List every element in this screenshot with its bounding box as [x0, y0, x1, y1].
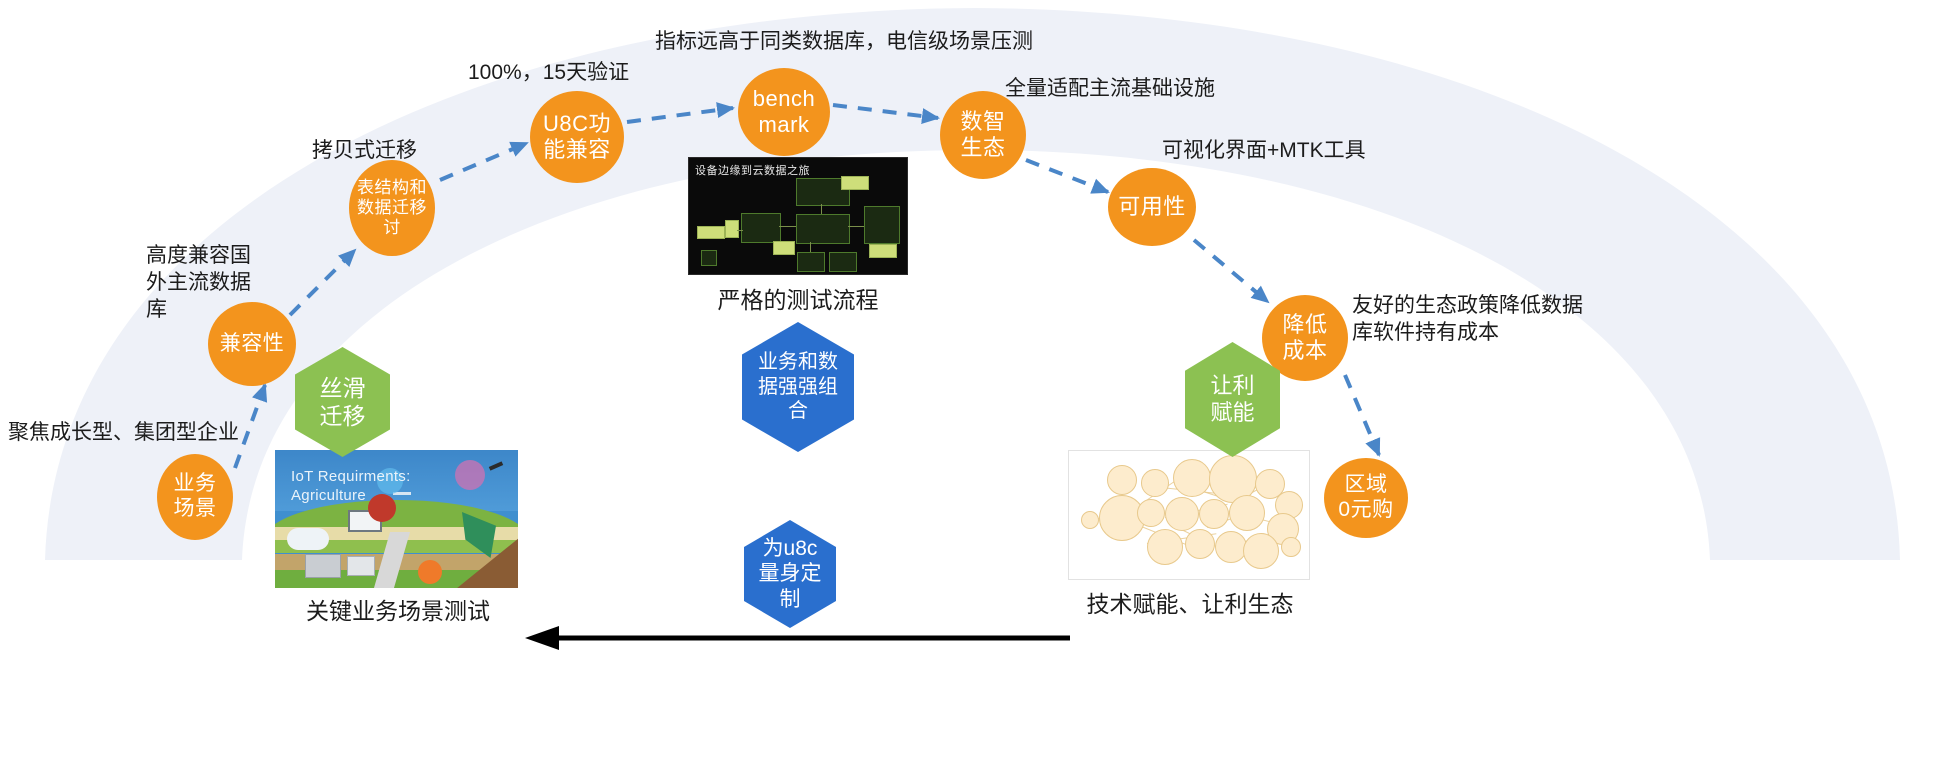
dark-diagram-shape [864, 206, 900, 244]
node-label-line2: 成本 [1278, 338, 1331, 364]
bubble-node [1199, 499, 1229, 529]
dark-diagram-shape [869, 244, 897, 258]
iot-node-dot [418, 560, 442, 584]
bubble-node [1137, 499, 1165, 527]
dark-diagram-shape [796, 214, 850, 244]
hex-profit-sharing-empower[interactable]: 让利 赋能 [1185, 342, 1280, 457]
dark-diagram-shape [841, 176, 869, 190]
bubble-node [1147, 529, 1183, 565]
hex-label-line2: 量身定制 [750, 561, 830, 612]
bubble-node [1215, 531, 1247, 563]
caption-key-business-scenario-test: 关键业务场景测试 [270, 592, 526, 626]
diagram-canvas: 业务 场景 兼容性 表结构和 数据迁移 讨 U8C功 能兼容 bench mar… [0, 0, 1945, 782]
dark-diagram-connector [810, 242, 811, 252]
bubble-node [1281, 537, 1301, 557]
picture-iot-agriculture: IoT Requirments: Agriculture [275, 450, 518, 588]
node-label-line1: 兼容性 [216, 332, 289, 357]
caption-technology-empower-ecosystem: 技术赋能、让利生态 [1035, 585, 1345, 619]
hex-custom-for-u8c[interactable]: 为u8c 量身定制 [744, 520, 836, 628]
flow-arrow-leftward [525, 618, 1070, 658]
annotation-high-compat-overseas-db: 高度兼容国 外主流数据 库 [146, 243, 251, 324]
annotation-focus-enterprises: 聚焦成长型、集团型企业 [8, 420, 239, 447]
hex-label-line2: 赋能 [1204, 400, 1260, 427]
iot-farmhouse [305, 554, 341, 578]
hex-label-line2: 迁移 [314, 402, 372, 430]
bubble-node [1173, 459, 1211, 497]
bubble-node [1229, 495, 1265, 531]
bubble-node [1185, 529, 1215, 559]
node-label-line1: 降低 [1278, 312, 1331, 338]
hex-smooth-migration[interactable]: 丝滑 迁移 [295, 347, 390, 457]
dark-diagram-shape [701, 250, 717, 266]
node-label-line2: 生态 [956, 135, 1009, 161]
hex-business-data-combo[interactable]: 业务和数 据强强组 合 [742, 322, 854, 452]
dark-diagram-shape [697, 226, 725, 239]
picture-technology-bubble-network [1068, 450, 1310, 580]
iot-title-line2: Agriculture [291, 487, 366, 504]
hex-label-line1: 丝滑 [314, 374, 372, 402]
node-label-line1: 表结构和 [353, 178, 431, 198]
annotation-friendly-eco-policy: 友好的生态政策降低数据 库软件持有成本 [1352, 293, 1583, 347]
node-label-line1: U8C功 [539, 111, 615, 137]
edge-to-cloud-title: 设备边缘到云数据之旅 [695, 162, 810, 178]
node-label-line3: 讨 [353, 218, 431, 238]
dark-diagram-connector [848, 226, 864, 227]
node-u8c-function-compatibility[interactable]: U8C功 能兼容 [530, 91, 624, 183]
node-label-line1: 业务 [170, 472, 221, 497]
dark-diagram-shape [725, 220, 739, 238]
node-label-line1: 数智 [956, 109, 1009, 135]
iot-title: IoT Requirments: Agriculture [291, 468, 411, 506]
hex-label-line3: 合 [752, 399, 844, 423]
node-schema-data-migration[interactable]: 表结构和 数据迁移 讨 [349, 160, 435, 256]
iot-cloud [287, 528, 329, 550]
annotation-metrics-far-above: 指标远高于同类数据库，电信级场景压测 [655, 29, 1033, 56]
node-label-line2: mark [749, 112, 819, 138]
dark-diagram-shape [797, 252, 825, 272]
bubble-node [1081, 511, 1099, 529]
node-label-line1: bench [749, 86, 819, 112]
annotation-full-adaptation-infra: 全量适配主流基础设施 [1005, 76, 1215, 103]
node-label-line2: 0元购 [1334, 498, 1397, 523]
node-business-scenario[interactable]: 业务 场景 [157, 454, 233, 540]
dark-diagram-connector [779, 226, 796, 227]
node-region-zero-purchase[interactable]: 区域 0元购 [1324, 458, 1408, 538]
iot-barn [347, 556, 375, 576]
caption-strict-test-process: 严格的测试流程 [678, 281, 918, 315]
node-digital-ecosystem[interactable]: 数智 生态 [940, 91, 1026, 179]
hex-label-line1: 让利 [1204, 373, 1260, 400]
annotation-copy-migration: 拷贝式迁移 [312, 138, 417, 165]
iot-node-dot [455, 460, 485, 490]
annotation-100-percent-15-day: 100%，15天验证 [468, 60, 629, 87]
node-label-line2: 能兼容 [539, 137, 615, 163]
dark-diagram-shape [773, 241, 795, 255]
picture-edge-to-cloud-diagram: 设备边缘到云数据之旅 [688, 157, 908, 275]
node-benchmark[interactable]: bench mark [738, 68, 830, 156]
bubble-node [1107, 465, 1137, 495]
hex-label-line2: 据强强组 [752, 375, 844, 399]
iot-title-line1: IoT Requirments: [291, 468, 411, 485]
bubble-node [1141, 469, 1169, 497]
bubble-node [1165, 497, 1199, 531]
node-availability[interactable]: 可用性 [1108, 168, 1196, 246]
annotation-visual-ui-mtk-tool: 可视化界面+MTK工具 [1162, 138, 1366, 165]
dark-diagram-shape [741, 213, 781, 243]
node-label-line2: 场景 [170, 497, 221, 522]
dark-diagram-shape [829, 252, 857, 272]
node-label-line2: 数据迁移 [353, 198, 431, 218]
bubble-node [1243, 533, 1279, 569]
node-label-line1: 可用性 [1114, 194, 1190, 220]
hex-label-line1: 业务和数 [752, 350, 844, 374]
hex-label-line1: 为u8c [750, 536, 830, 562]
node-label-line1: 区域 [1334, 473, 1397, 498]
dark-diagram-connector [737, 230, 743, 231]
dark-diagram-connector [821, 204, 822, 214]
